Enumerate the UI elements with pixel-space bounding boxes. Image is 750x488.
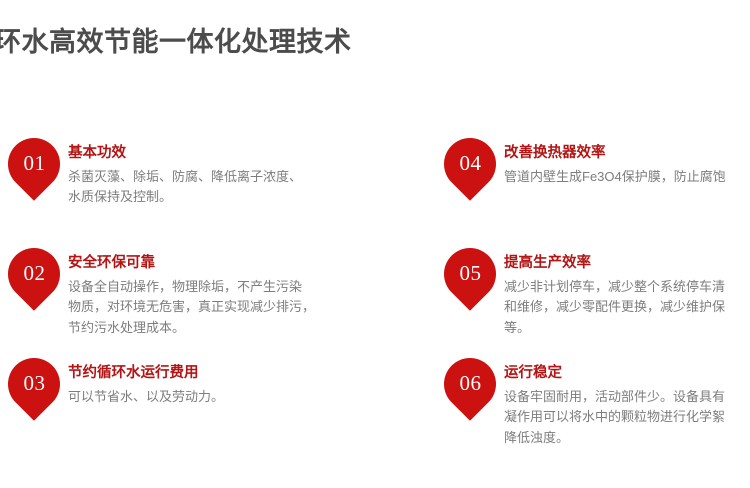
feature-text: 改善换热器效率 管道内壁生成Fe3O4保护膜，防止腐饱: [504, 138, 750, 187]
feature-item[interactable]: 01 基本功效 杀菌灭藻、除垢、防腐、降低离子浓度、 水质保持及控制。: [8, 138, 398, 208]
feature-number: 05: [444, 248, 496, 300]
feature-badge: 04: [444, 138, 496, 200]
feature-heading: 提高生产效率: [504, 254, 750, 274]
feature-text: 运行稳定 设备牢固耐用，活动部件少。设备具有 凝作用可以将水中的颗粒物进行化学絮…: [504, 358, 750, 448]
feature-badge: 02: [8, 248, 60, 310]
feature-description: 管道内壁生成Fe3O4保护膜，防止腐饱: [504, 167, 750, 188]
feature-description: 设备全自动操作，物理除垢，不产生污染 物质，对环境无危害，真正实现减少排污， 节…: [68, 277, 398, 339]
feature-item[interactable]: 03 节约循环水运行费用 可以节省水、以及劳动力。: [8, 358, 398, 420]
feature-badge: 06: [444, 358, 496, 420]
feature-badge: 01: [8, 138, 60, 200]
feature-heading: 运行稳定: [504, 364, 750, 384]
feature-item[interactable]: 05 提高生产效率 减少非计划停车，减少整个系统停车清 和维修，减少零配件更换，…: [444, 248, 750, 338]
feature-heading: 安全环保可靠: [68, 254, 398, 274]
feature-badge: 05: [444, 248, 496, 310]
feature-heading: 节约循环水运行费用: [68, 364, 398, 384]
feature-description: 减少非计划停车，减少整个系统停车清 和维修，减少零配件更换，减少维护保 等。: [504, 277, 750, 339]
feature-number: 06: [444, 358, 496, 410]
feature-description: 可以节省水、以及劳动力。: [68, 387, 398, 408]
feature-heading: 改善换热器效率: [504, 144, 750, 164]
feature-number: 01: [8, 138, 60, 190]
feature-description: 设备牢固耐用，活动部件少。设备具有 凝作用可以将水中的颗粒物进行化学絮 降低浊度…: [504, 387, 750, 449]
feature-badge: 03: [8, 358, 60, 420]
page-title: 环水高效节能一体化处理技术: [0, 26, 352, 58]
feature-item[interactable]: 04 改善换热器效率 管道内壁生成Fe3O4保护膜，防止腐饱: [444, 138, 750, 200]
feature-heading: 基本功效: [68, 144, 398, 164]
feature-item[interactable]: 06 运行稳定 设备牢固耐用，活动部件少。设备具有 凝作用可以将水中的颗粒物进行…: [444, 358, 750, 448]
feature-description: 杀菌灭藻、除垢、防腐、降低离子浓度、 水质保持及控制。: [68, 167, 398, 208]
feature-number: 02: [8, 248, 60, 300]
feature-text: 节约循环水运行费用 可以节省水、以及劳动力。: [68, 358, 398, 407]
feature-number: 04: [444, 138, 496, 190]
feature-text: 安全环保可靠 设备全自动操作，物理除垢，不产生污染 物质，对环境无危害，真正实现…: [68, 248, 398, 338]
feature-text: 基本功效 杀菌灭藻、除垢、防腐、降低离子浓度、 水质保持及控制。: [68, 138, 398, 208]
feature-number: 03: [8, 358, 60, 410]
feature-text: 提高生产效率 减少非计划停车，减少整个系统停车清 和维修，减少零配件更换，减少维…: [504, 248, 750, 338]
feature-item[interactable]: 02 安全环保可靠 设备全自动操作，物理除垢，不产生污染 物质，对环境无危害，真…: [8, 248, 398, 338]
